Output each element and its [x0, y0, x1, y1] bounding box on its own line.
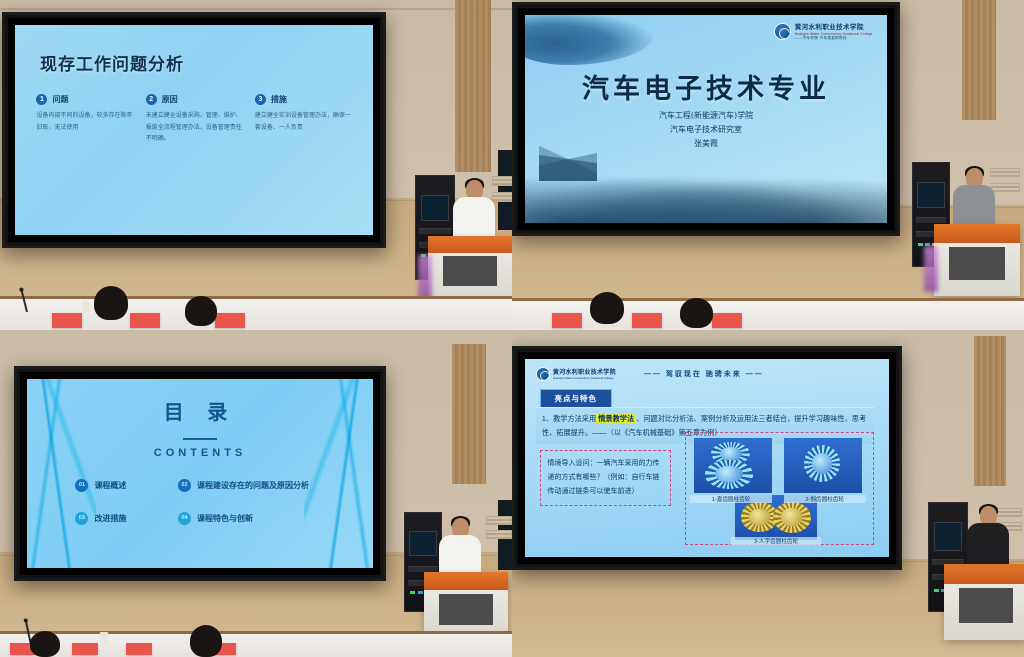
- screen-bezel: 现存工作问题分析 1 问题 设备内部不同的设备，较多存在陈年旧账，无法使用: [8, 18, 380, 242]
- college-logo: 黄河水利职业技术学院 Huanghe Water Conservancy Voc…: [774, 23, 873, 40]
- item-number-icon: 01: [75, 479, 88, 492]
- panel-bottom-right: 黄河水利职业技术学院 Huanghe Water Conservancy Voc…: [512, 330, 1024, 657]
- table-edge: [512, 298, 1024, 301]
- podium-front-panel: [439, 594, 493, 625]
- rack-display: [421, 195, 450, 222]
- wood-wall-strip: [962, 0, 996, 120]
- screen-bezel: 目 录 CONTENTS 01 课程概述 02 课程建设存在的问题及原因分析: [20, 372, 380, 575]
- wall-vent: [486, 530, 512, 539]
- podium-top-surface: [428, 236, 512, 253]
- subtitle-line: 张美霞: [525, 137, 887, 151]
- table-edge: [0, 631, 512, 634]
- number-badge-icon: 3: [255, 94, 266, 105]
- wall-seam: [0, 8, 512, 10]
- slide-title-page: 黄河水利职业技术学院 Huanghe Water Conservancy Voc…: [525, 15, 887, 223]
- audience-member: [190, 625, 222, 657]
- rack-slot: [419, 228, 451, 234]
- list-item: 01 课程概述: [75, 479, 178, 492]
- figure-caption: 1-直齿圆柱齿轮: [690, 495, 772, 503]
- college-logo-text: 黄河水利职业技术学院 Huanghe Water Conservancy Voc…: [553, 367, 616, 380]
- podium-accent-light: [418, 255, 432, 301]
- college-logo: 黄河水利职业技术学院 Huanghe Water Conservancy Voc…: [536, 367, 616, 381]
- helical-gear-icon: [804, 445, 840, 482]
- podium-front-panel: [443, 256, 497, 285]
- wood-wall-strip: [452, 344, 486, 484]
- podium: [428, 236, 512, 300]
- item-number-icon: 03: [75, 512, 88, 525]
- podium-top-surface: [424, 572, 508, 590]
- judge-table: [0, 631, 512, 657]
- herringbone-gear-icon: [773, 502, 811, 533]
- slide-tagline: —— 驾驭现在 驰骋未来 ——: [644, 369, 764, 379]
- wood-wall-strip: [455, 0, 491, 172]
- list-item-label: 课程概述: [94, 480, 126, 491]
- torso: [967, 523, 1009, 569]
- name-card: [126, 643, 152, 655]
- college-tagline: ——汽车学院·汽车类高职院校: [795, 36, 873, 40]
- slide-title: 目 录: [27, 396, 373, 425]
- name-card: [130, 313, 160, 328]
- name-card: [712, 313, 742, 328]
- slide-subtitle: CONTENTS: [27, 447, 373, 459]
- audience-member: [185, 296, 217, 326]
- judge-table: [0, 296, 512, 330]
- panel-bottom-left: 目 录 CONTENTS 01 课程概述 02 课程建设存在的问题及原因分析: [0, 330, 512, 657]
- rack-display: [409, 531, 436, 556]
- rack-slot: [916, 217, 946, 223]
- college-name-cn: 黄河水利职业技术学院: [795, 24, 873, 32]
- slide-subtitle: 汽车工程(新能源汽车)学院 汽车电子技术研究室 张美霞: [525, 109, 887, 151]
- column-label: 措施: [271, 94, 287, 105]
- podium-front-panel: [949, 247, 1004, 280]
- podium: [424, 572, 508, 640]
- podium-top-surface: [934, 224, 1020, 243]
- cup: [82, 301, 90, 314]
- screen-bezel: 黄河水利职业技术学院 Huanghe Water Conservancy Voc…: [518, 8, 894, 230]
- college-name-en: Huanghe Water Conservancy Vocational Col…: [553, 376, 616, 380]
- name-card: [215, 313, 245, 328]
- podium-top-surface: [944, 564, 1024, 584]
- column-label: 原因: [162, 94, 178, 105]
- cup: [100, 632, 108, 645]
- projection-screen: 现存工作问题分析 1 问题 设备内部不同的设备，较多存在陈年旧账，无法使用: [2, 12, 386, 248]
- ink-wash-decoration: [525, 15, 655, 65]
- audience-member: [680, 298, 713, 328]
- list-item-label: 课程建设存在的问题及原因分析: [197, 480, 309, 491]
- rack-display: [934, 522, 963, 550]
- column-header: 3 措施: [255, 94, 352, 105]
- podium: [934, 224, 1020, 296]
- item-number-icon: 04: [178, 512, 191, 525]
- name-card: [552, 313, 582, 328]
- title-divider: [183, 438, 217, 440]
- slide-title: 现存工作问题分析: [40, 50, 184, 75]
- audience-member: [590, 292, 624, 324]
- list-item: 02 课程建设存在的问题及原因分析: [178, 479, 345, 492]
- projection-screen: 黄河水利职业技术学院 Huanghe Water Conservancy Voc…: [512, 346, 902, 570]
- subtitle-line: 汽车工程(新能源汽车)学院: [525, 109, 887, 123]
- college-name-cn: 黄河水利职业技术学院: [553, 367, 616, 376]
- slide-column: 1 问题 设备内部不同的设备，较多存在陈年旧账，无法使用: [36, 94, 133, 145]
- rack-slot: [408, 566, 438, 572]
- figure-caption: 2-斜齿圆柱齿轮: [784, 495, 866, 503]
- screen-surface: 黄河水利职业技术学院 Huanghe Water Conservancy Voc…: [525, 15, 887, 223]
- column-body: 未建立健全设备采购、管理、维护、报废全流程管理办法，设备管理责任不明确。: [146, 111, 243, 145]
- contents-list: 01 课程概述 02 课程建设存在的问题及原因分析 03 改进措施: [75, 479, 345, 525]
- slide-column: 2 原因 未建立健全设备采购、管理、维护、报废全流程管理办法，设备管理责任不明确…: [146, 94, 243, 145]
- screen-bezel: 黄河水利职业技术学院 Huanghe Water Conservancy Voc…: [518, 352, 896, 564]
- question-callout-box: 情境导入设问：一辆汽车采用的力传递的方式有哪些？（例如：自行车链传动通过链条可以…: [540, 450, 671, 506]
- side-display: [498, 150, 512, 230]
- panel-top-right: 黄河水利职业技术学院 Huanghe Water Conservancy Voc…: [512, 0, 1024, 330]
- column-header: 2 原因: [146, 94, 243, 105]
- wall-vent: [486, 516, 512, 525]
- slide-main-title: 汽车电子技术专业: [525, 67, 887, 106]
- item-number-icon: 02: [178, 479, 191, 492]
- list-item-label: 课程特色与创新: [197, 513, 253, 524]
- rack-led-icon: [410, 591, 415, 594]
- number-badge-icon: 1: [36, 94, 47, 105]
- column-body: 建立健全实训设备管理办法，确保一套设备、一人负责: [255, 111, 352, 134]
- podium-front-panel: [959, 588, 1013, 623]
- slide-highlights: 黄河水利职业技术学院 Huanghe Water Conservancy Voc…: [525, 359, 889, 557]
- paragraph-part-one: 1、教学方法采用: [542, 414, 596, 423]
- wood-wall-strip: [974, 336, 1006, 486]
- list-item: 04 课程特色与创新: [178, 512, 345, 525]
- list-item: 03 改进措施: [75, 512, 178, 525]
- column-body: 设备内部不同的设备，较多存在陈年旧账，无法使用: [36, 111, 133, 134]
- podium: [944, 564, 1024, 640]
- projection-screen: 黄河水利职业技术学院 Huanghe Water Conservancy Voc…: [512, 2, 900, 236]
- figure-caption: 3-人字齿圆柱齿轮: [731, 537, 821, 545]
- screen-surface: 黄河水利职业技术学院 Huanghe Water Conservancy Voc…: [525, 359, 889, 557]
- screen-surface: 现存工作问题分析 1 问题 设备内部不同的设备，较多存在陈年旧账，无法使用: [15, 25, 373, 235]
- figure-thumbnail: [784, 438, 863, 493]
- screen-surface: 目 录 CONTENTS 01 课程概述 02 课程建设存在的问题及原因分析: [27, 379, 373, 568]
- name-card: [632, 313, 662, 328]
- name-card: [52, 313, 82, 328]
- section-badge: 亮点与特色: [540, 389, 613, 408]
- rack-led-icon: [418, 591, 423, 594]
- table-edge: [0, 296, 512, 299]
- slide-column: 3 措施 建立健全实训设备管理办法，确保一套设备、一人负责: [255, 94, 352, 145]
- rack-led-icon: [918, 243, 923, 246]
- audience-member: [30, 631, 60, 657]
- highlighted-term: 情景教学法: [596, 414, 636, 423]
- audience-member: [94, 286, 128, 320]
- college-emblem-icon: [774, 23, 791, 40]
- spur-gear-icon: [705, 460, 754, 489]
- slide-contents: 目 录 CONTENTS 01 课程概述 02 课程建设存在的问题及原因分析: [27, 379, 373, 568]
- college-logo-text: 黄河水利职业技术学院 Huanghe Water Conservancy Voc…: [795, 24, 873, 41]
- figure-thumbnail: [694, 438, 773, 493]
- list-item-label: 改进措施: [94, 513, 126, 524]
- panel-top-left: 现存工作问题分析 1 问题 设备内部不同的设备，较多存在陈年旧账，无法使用: [0, 0, 512, 330]
- slide-header: 黄河水利职业技术学院 Huanghe Water Conservancy Voc…: [536, 367, 878, 381]
- podium-accent-light: [924, 246, 938, 292]
- photo-collage-grid: 现存工作问题分析 1 问题 设备内部不同的设备，较多存在陈年旧账，无法使用: [0, 0, 1024, 657]
- judge-table: [512, 298, 1024, 330]
- figure-group: 1-直齿圆柱齿轮 2-斜齿圆柱齿轮 3-人字齿圆柱齿轮: [685, 432, 874, 545]
- projection-screen: 目 录 CONTENTS 01 课程概述 02 课程建设存在的问题及原因分析: [14, 366, 386, 581]
- number-badge-icon: 2: [146, 94, 157, 105]
- rack-led-icon: [934, 589, 939, 592]
- slide-problem-analysis: 现存工作问题分析 1 问题 设备内部不同的设备，较多存在陈年旧账，无法使用: [15, 25, 373, 235]
- subtitle-line: 汽车电子技术研究室: [525, 123, 887, 137]
- slide-columns: 1 问题 设备内部不同的设备，较多存在陈年旧账，无法使用 2 原因: [36, 94, 351, 145]
- rack-display: [917, 182, 944, 209]
- college-emblem-icon: [536, 367, 550, 381]
- column-header: 1 问题: [36, 94, 133, 105]
- column-label: 问题: [52, 94, 68, 105]
- name-card: [72, 643, 98, 655]
